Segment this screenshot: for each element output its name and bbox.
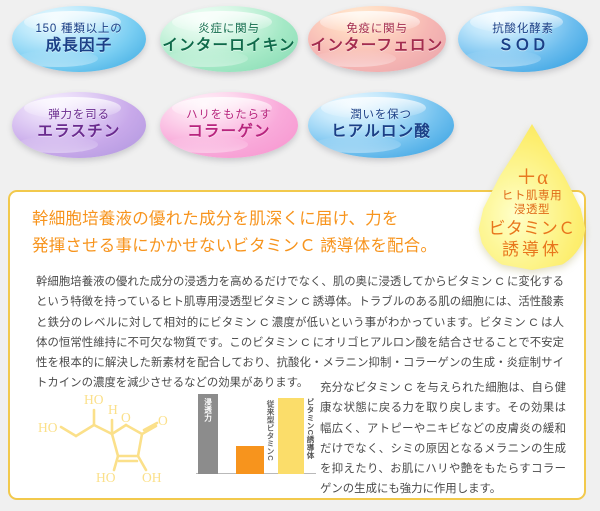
bubble-label-main: エラスチン (37, 123, 120, 140)
bubble-label-main: インターフェロン (311, 37, 444, 54)
bubble-growth-factor: 150 種類以上の 成長因子 (12, 6, 146, 72)
bubble-interferon: 免疫に関与 インターフェロン (308, 6, 446, 72)
chart-bar-0: 浸透力 (198, 394, 218, 474)
droplet-title-1: ビタミンＣ (474, 218, 590, 239)
chart-bar-label-1: 従来型ビタミンC (265, 400, 276, 461)
bubble-label-top: ハリをもたらす (186, 109, 272, 122)
chem-label-ho-top: HO (84, 392, 104, 407)
chem-label-ho-left: HO (38, 420, 58, 435)
bubble-label-top: 150 種類以上の (35, 23, 122, 36)
bubble-label-main: コラーゲン (187, 123, 271, 140)
ascorbic-acid-structure-icon: HO HO H O O HO OH (20, 380, 188, 492)
bubble-sod: 抗酸化酵素 ＳＯＤ (458, 6, 588, 72)
bubble-label-main: ヒアルロン酸 (331, 123, 431, 140)
chart-bar-label-2: ビタミンC誘導体 (305, 398, 316, 459)
penetration-bar-chart: 浸透力 従来型ビタミンC ビタミンC誘導体 (188, 380, 316, 492)
bubble-interleukin: 炎症に関与 インターロイキン (160, 6, 298, 72)
bubble-label-main: 成長因子 (46, 37, 113, 54)
droplet-sub-1: ヒト肌専用 (474, 189, 590, 203)
bubble-label-main: ＳＯＤ (498, 37, 548, 54)
chart-bar-label-0: 浸透力 (203, 398, 214, 422)
bubble-collagen: ハリをもたらす コラーゲン (160, 92, 298, 158)
headline-line-2: 発揮させる事にかかせないビタミンＣ 誘導体を配合。 (32, 233, 492, 260)
chem-label-ho-bottom: HO (96, 470, 116, 485)
chem-label-h: H (108, 402, 118, 417)
bubble-label-main: インターロイキン (162, 37, 295, 54)
droplet-plus-alpha: ＋α (474, 167, 590, 188)
droplet-text-group: ＋α ヒト肌専用 浸透型 ビタミンＣ 誘導体 (474, 167, 590, 270)
vitamin-c-droplet: ＋α ヒト肌専用 浸透型 ビタミンＣ 誘導体 (474, 124, 590, 270)
chem-label-oh-bottom: OH (142, 470, 162, 485)
panel-headline: 幹細胞培養液の優れた成分を肌深くに届け、力を 発揮させる事にかかせないビタミンＣ… (32, 206, 492, 259)
bubble-label-top: 免疫に関与 (346, 23, 408, 36)
infographic-canvas: 150 種類以上の 成長因子 炎症に関与 インターロイキン 免疫に関与 インター… (0, 0, 600, 511)
bubble-elastin: 弾力を司る エラスチン (12, 92, 146, 158)
headline-line-1: 幹細胞培養液の優れた成分を肌深くに届け、力を (32, 206, 492, 233)
bubble-hyaluronic-acid: 潤いを保つ ヒアルロン酸 (308, 92, 454, 158)
chem-svg: HO HO H O O HO OH (20, 380, 188, 492)
bubble-label-top: 炎症に関与 (198, 23, 260, 36)
chart-bar-2: ビタミンC誘導体 (278, 398, 304, 474)
droplet-sub-2: 浸透型 (474, 203, 590, 217)
bubble-label-top: 弾力を司る (48, 109, 110, 122)
panel-body-text: 幹細胞培養液の優れた成分の浸透力を高めるだけでなく、肌の奥に浸透してからビタミン… (36, 272, 564, 394)
droplet-title-2: 誘導体 (474, 239, 590, 260)
panel-right-body-text: 充分なビタミン C を与えられた細胞は、自ら健康な状態に戻る力を取り戻します。そ… (320, 378, 566, 500)
chem-label-o-carbonyl: O (158, 413, 168, 428)
bubble-label-top: 抗酸化酵素 (492, 23, 554, 36)
chem-label-o-ring: O (121, 410, 131, 425)
chart-bar-1: 従来型ビタミンC (236, 446, 264, 474)
bubble-label-top: 潤いを保つ (350, 109, 412, 122)
